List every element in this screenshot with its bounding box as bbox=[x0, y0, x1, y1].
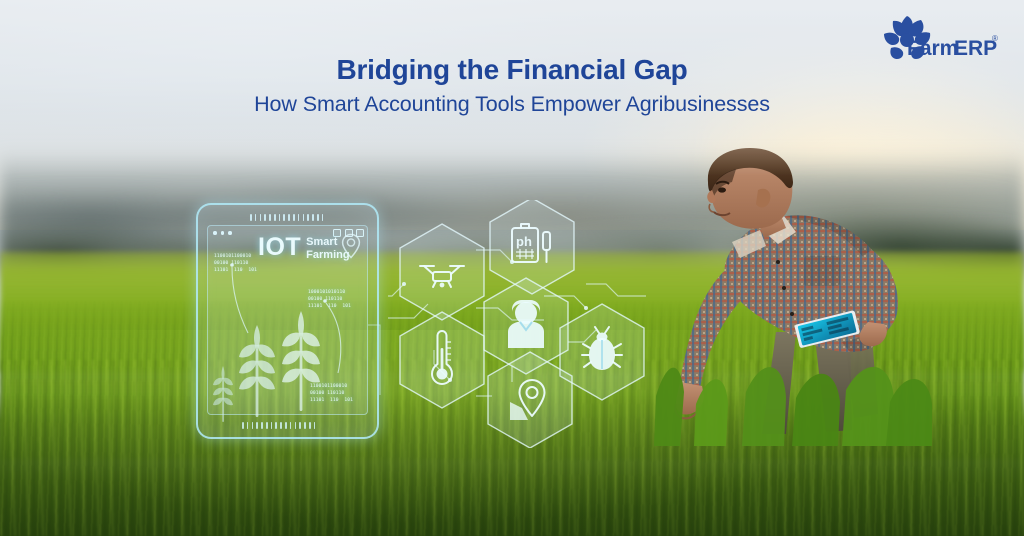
hex-node-ph-meter[interactable]: ph bbox=[490, 200, 574, 294]
panel-top-ticks bbox=[250, 214, 323, 221]
binary-text-1: 1100101100010 00100 110110 11101 110 101 bbox=[214, 253, 257, 274]
iot-hex-node-cluster: .ic { fill:none; stroke:rgba(236,252,255… bbox=[388, 200, 648, 448]
hex-node-temperature[interactable] bbox=[400, 312, 484, 408]
location-pin-icon bbox=[341, 233, 361, 264]
wheat-icon-small bbox=[212, 365, 234, 428]
iot-smart-farming-panel: IOT Smart Farming 1100101100010 00100 11… bbox=[196, 203, 379, 439]
wheat-icon-large-left bbox=[234, 323, 280, 424]
page-title: Bridging the Financial Gap bbox=[0, 54, 1024, 86]
svg-text:ph: ph bbox=[516, 234, 532, 249]
farmer-avatar-icon bbox=[508, 300, 544, 348]
iot-title-main: IOT bbox=[258, 235, 301, 260]
logo-text-farm: Farm bbox=[907, 37, 958, 60]
binary-text-2: 1000101010110 00100 110110 11101 110 101 bbox=[308, 289, 351, 310]
marketing-banner: IOT Smart Farming 1100101100010 00100 11… bbox=[0, 0, 1024, 536]
headline-block: Bridging the Financial Gap How Smart Acc… bbox=[0, 54, 1024, 118]
wheat-icon-large-right bbox=[278, 309, 324, 418]
farmer-photo-subject bbox=[636, 146, 936, 466]
logo-registered-mark: ® bbox=[992, 34, 998, 43]
page-subtitle: How Smart Accounting Tools Empower Agrib… bbox=[0, 92, 1024, 118]
logo-text-erp: ERP bbox=[954, 37, 997, 60]
farmerp-logo[interactable]: Farm ERP ® bbox=[874, 14, 1002, 62]
panel-bottom-ticks bbox=[242, 422, 315, 429]
hex-node-drone[interactable] bbox=[400, 224, 484, 320]
iot-title-sub-line1: Smart bbox=[306, 236, 337, 248]
window-dots bbox=[213, 231, 232, 235]
iot-panel-title: IOT Smart Farming bbox=[258, 235, 350, 262]
